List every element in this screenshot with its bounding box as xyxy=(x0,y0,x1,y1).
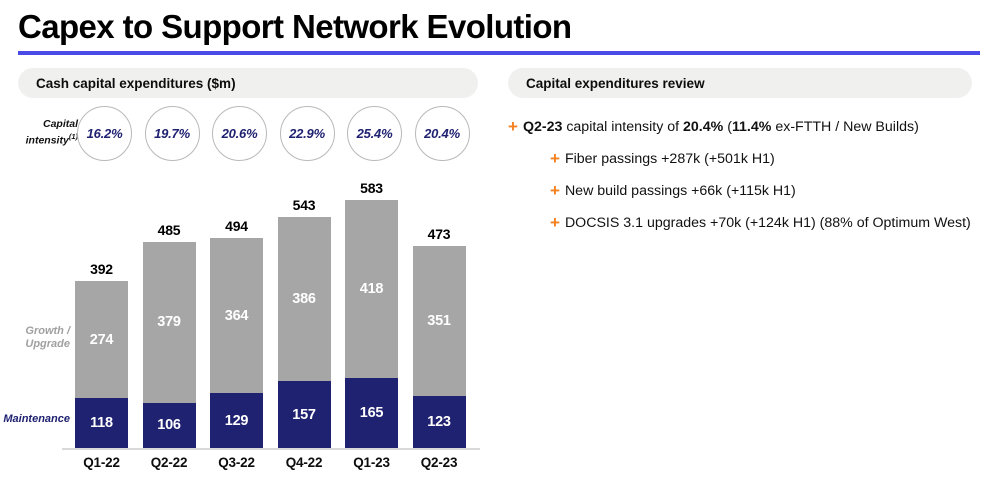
capex-stacked-bar-chart: Growth / Upgrade Maintenance 392274118Q1… xyxy=(0,0,500,489)
plain-text: ex-FTTH / New Builds) xyxy=(771,119,918,135)
chart-baseline-axis xyxy=(62,448,480,450)
emphasis-text: 11.4% xyxy=(732,119,771,135)
bar-group-q1-23: 583418165Q1-23 xyxy=(345,0,398,448)
legend-label-maintenance: Maintenance xyxy=(0,413,70,425)
bar-segment-growth-upgrade: 418 xyxy=(345,200,398,378)
bar-group-q1-22: 392274118Q1-22 xyxy=(75,0,128,448)
review-bullet-2: +Fiber passings +287k (+501k H1) xyxy=(508,150,1006,168)
review-bullet-4: +DOCSIS 3.1 upgrades +70k (+124k H1) (88… xyxy=(508,214,1006,232)
bar-segment-value: 165 xyxy=(360,405,384,421)
bar-group-q3-22: 494364129Q3-22 xyxy=(210,0,263,448)
plain-text: ( xyxy=(723,119,732,135)
bar-total-label: 473 xyxy=(401,226,478,242)
bar-group-q2-23: 473351123Q2-23 xyxy=(413,0,466,448)
panel-header-right: Capital expenditures review xyxy=(508,68,972,98)
review-bullet-text: New build passings +66k (+115k H1) xyxy=(565,182,796,200)
bar-segment-value: 129 xyxy=(225,413,249,429)
bar-segment-value: 418 xyxy=(360,281,384,297)
bar-segment-maintenance: 106 xyxy=(143,403,196,448)
bar-total-label: 494 xyxy=(198,218,275,234)
plain-text: capital intensity of xyxy=(562,119,683,135)
bar-segment-maintenance: 129 xyxy=(210,393,263,448)
emphasis-text: Q2-23 xyxy=(523,119,562,135)
bar-segment-value: 118 xyxy=(90,415,113,431)
bar-segment-maintenance: 118 xyxy=(75,398,128,448)
bar-total-label: 392 xyxy=(63,261,140,277)
bar-segment-value: 157 xyxy=(292,407,316,423)
bar-segment-growth-upgrade: 386 xyxy=(278,217,331,381)
bar-segment-value: 379 xyxy=(157,314,181,330)
panel-header-right-label: Capital expenditures review xyxy=(526,76,705,91)
bar-total-label: 583 xyxy=(333,180,410,196)
bar-segment-growth-upgrade: 274 xyxy=(75,281,128,398)
bar-segment-value: 106 xyxy=(157,417,181,433)
bar-segment-maintenance: 123 xyxy=(413,396,466,448)
emphasis-text: 20.4% xyxy=(683,119,723,135)
plus-bullet-icon: + xyxy=(550,182,560,200)
bar-segment-growth-upgrade: 379 xyxy=(143,242,196,403)
bar-total-label: 485 xyxy=(131,222,208,238)
plus-bullet-icon: + xyxy=(508,118,518,136)
plain-text: New build passings +66k (+115k H1) xyxy=(565,183,796,199)
plain-text: Fiber passings +287k (+501k H1) xyxy=(565,151,775,167)
plain-text: DOCSIS 3.1 upgrades +70k (+124k H1) (88%… xyxy=(565,215,971,231)
legend-label-growth-upgrade: Growth / Upgrade xyxy=(6,325,70,351)
review-bullet-1: +Q2-23 capital intensity of 20.4% (11.4%… xyxy=(508,118,1006,136)
x-axis-tick-label: Q2-23 xyxy=(399,455,480,470)
bar-total-label: 543 xyxy=(266,197,343,213)
bar-segment-growth-upgrade: 351 xyxy=(413,246,466,395)
bar-segment-value: 274 xyxy=(90,332,114,348)
plus-bullet-icon: + xyxy=(550,214,560,232)
review-bullet-text: DOCSIS 3.1 upgrades +70k (+124k H1) (88%… xyxy=(565,214,971,232)
bar-group-q2-22: 485379106Q2-22 xyxy=(143,0,196,448)
bar-group-q4-22: 543386157Q4-22 xyxy=(278,0,331,448)
bar-segment-maintenance: 165 xyxy=(345,378,398,448)
plus-bullet-icon: + xyxy=(550,150,560,168)
review-bullet-text: Q2-23 capital intensity of 20.4% (11.4% … xyxy=(523,118,919,136)
legend-growth-line1: Growth / xyxy=(25,325,70,337)
bar-segment-value: 123 xyxy=(427,414,451,430)
legend-growth-line2: Upgrade xyxy=(25,338,70,350)
bar-segment-maintenance: 157 xyxy=(278,381,331,448)
capital-expenditures-review-list: +Q2-23 capital intensity of 20.4% (11.4%… xyxy=(508,118,1006,246)
bar-segment-value: 364 xyxy=(225,308,249,324)
review-bullet-text: Fiber passings +287k (+501k H1) xyxy=(565,150,775,168)
bar-segment-growth-upgrade: 364 xyxy=(210,238,263,393)
review-bullet-3: +New build passings +66k (+115k H1) xyxy=(508,182,1006,200)
bar-segment-value: 386 xyxy=(292,291,316,307)
bar-segment-value: 351 xyxy=(427,313,451,329)
